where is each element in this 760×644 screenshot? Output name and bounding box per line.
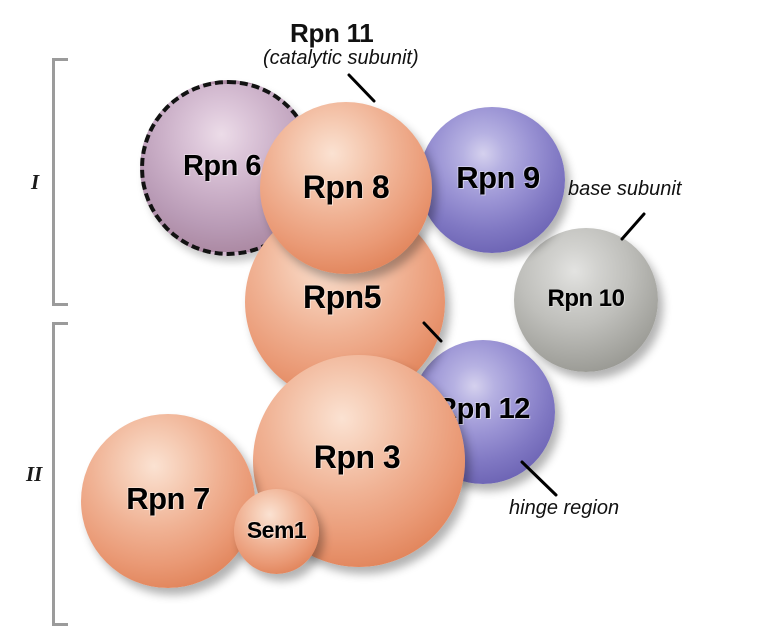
leader-segment-rpn-11	[349, 75, 374, 101]
leader-segment-base-subunit	[622, 214, 644, 239]
annotation-base-subunit: base subunit	[568, 178, 681, 201]
leader-segment-hinge-region	[522, 462, 556, 495]
leader-segment-rpn5-rpn12-connector	[424, 323, 441, 341]
figure-subtitle-catalytic-subunit: (catalytic subunit)	[263, 47, 419, 70]
annotation-hinge-region: hinge region	[509, 497, 619, 520]
leader-line-rpn-11	[0, 0, 760, 644]
figure-title-rpn-11: Rpn 11	[290, 18, 373, 49]
proteasome-lid-diagram: I II Rpn 12 Rpn 10 Rpn 9 Rpn 6 Rpn5 Rpn …	[0, 0, 760, 644]
